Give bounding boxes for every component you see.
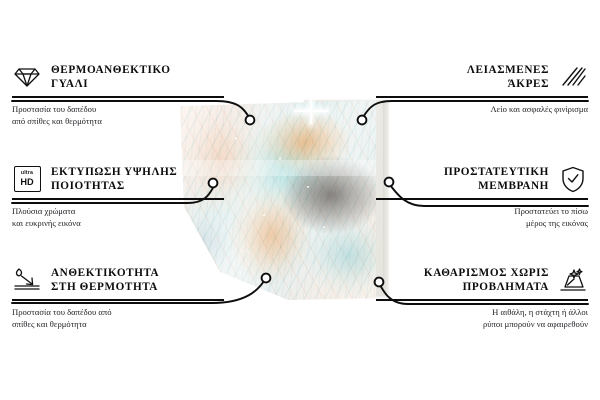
polished-edges-icon <box>558 62 588 92</box>
feature-polished-edges: ΛΕΙΑΣΜΕΝΕΣ ΆΚΡΕΣ Λείο και ασφαλές φινίρι… <box>376 62 588 115</box>
feature-rule <box>376 198 588 200</box>
feature-title: ΘΕΡΜΟΑΝΘΕΚΤΙΚΟ ΓΥΑΛΙ <box>51 63 171 91</box>
feature-header: ΠΡΟΣΤΑΤΕΥΤΙΚΗ ΜΕΜΒΡΑΝΗ <box>376 164 588 194</box>
diamond-icon <box>12 62 42 92</box>
feature-title: ΛΕΙΑΣΜΕΝΕΣ ΆΚΡΕΣ <box>467 63 549 91</box>
feature-heat-resistance: ΑΝΘΕΚΤΙΚΟΤΗΤΑ ΣΤΗ ΘΕΡΜΟΤΗΤΑ Προστασία το… <box>12 265 224 330</box>
feature-protective-film: ΠΡΟΣΤΑΤΕΥΤΙΚΗ ΜΕΜΒΡΑΝΗ Προστατεύει το πί… <box>376 164 588 229</box>
ultra-hd-badge-bottom: HD <box>20 178 33 187</box>
feature-title: ΑΝΘΕΚΤΙΚΟΤΗΤΑ ΣΤΗ ΘΕΡΜΟΤΗΤΑ <box>51 266 159 294</box>
feature-header: ΘΕΡΜΟΑΝΘΕΚΤΙΚΟ ΓΥΑΛΙ <box>12 62 224 92</box>
feature-rule <box>376 96 588 98</box>
feature-subtitle: Πλούσια χρώματα και ευκρινής εικόνα <box>12 205 224 229</box>
feature-rule <box>12 299 224 301</box>
feature-heat-resistant-glass: ΘΕΡΜΟΑΝΘΕΚΤΙΚΟ ΓΥΑΛΙ Προστασία του δαπέδ… <box>12 62 224 127</box>
feature-header: ΛΕΙΑΣΜΕΝΕΣ ΆΚΡΕΣ <box>376 62 588 92</box>
feature-rule <box>12 96 224 98</box>
feature-title: ΚΑΘΑΡΙΣΜΟΣ ΧΩΡΙΣ ΠΡΟΒΛΗΜΑΤΑ <box>424 266 549 294</box>
feature-header: ΚΑΘΑΡΙΣΜΟΣ ΧΩΡΙΣ ΠΡΟΒΛΗΜΑΤΑ <box>376 265 588 295</box>
feature-easy-cleaning: ΚΑΘΑΡΙΣΜΟΣ ΧΩΡΙΣ ΠΡΟΒΛΗΜΑΤΑ Η αιθάλη, η … <box>376 265 588 330</box>
feature-subtitle: Προστατεύει το πίσω μέρος της εικόνας <box>376 205 588 229</box>
infographic-canvas: ΘΕΡΜΟΑΝΘΕΚΤΙΚΟ ΓΥΑΛΙ Προστασία του δαπέδ… <box>0 0 600 400</box>
feature-subtitle: Προστασία του δαπέδου από σπίθες και θερ… <box>12 103 224 127</box>
heat-resistance-icon <box>12 265 42 295</box>
feature-header: ΑΝΘΕΚΤΙΚΟΤΗΤΑ ΣΤΗ ΘΕΡΜΟΤΗΤΑ <box>12 265 224 295</box>
feature-subtitle: Προστασία του δαπέδου από σπίθες και θερ… <box>12 306 224 330</box>
easy-clean-icon <box>558 265 588 295</box>
feature-title: ΠΡΟΣΤΑΤΕΥΤΙΚΗ ΜΕΜΒΡΑΝΗ <box>444 165 549 193</box>
feature-subtitle: Λείο και ασφαλές φινίρισμα <box>376 103 588 115</box>
feature-high-quality-print: ultra HD ΕΚΤΥΠΩΣΗ ΥΨΗΛΗΣ ΠΟΙΟΤΗΤΑΣ Πλούσ… <box>12 164 224 229</box>
feature-rule <box>376 299 588 301</box>
feature-header: ultra HD ΕΚΤΥΠΩΣΗ ΥΨΗΛΗΣ ΠΟΙΟΤΗΤΑΣ <box>12 164 224 194</box>
feature-subtitle: Η αιθάλη, η στάχτη ή άλλοι ρύποι μπορούν… <box>376 306 588 330</box>
feature-rule <box>12 198 224 200</box>
shield-check-icon <box>558 164 588 194</box>
ultra-hd-badge-top: ultra <box>21 171 33 176</box>
ultra-hd-icon: ultra HD <box>12 164 42 194</box>
feature-title: ΕΚΤΥΠΩΣΗ ΥΨΗΛΗΣ ΠΟΙΟΤΗΤΑΣ <box>51 165 177 193</box>
ultra-hd-badge: ultra HD <box>14 166 41 192</box>
